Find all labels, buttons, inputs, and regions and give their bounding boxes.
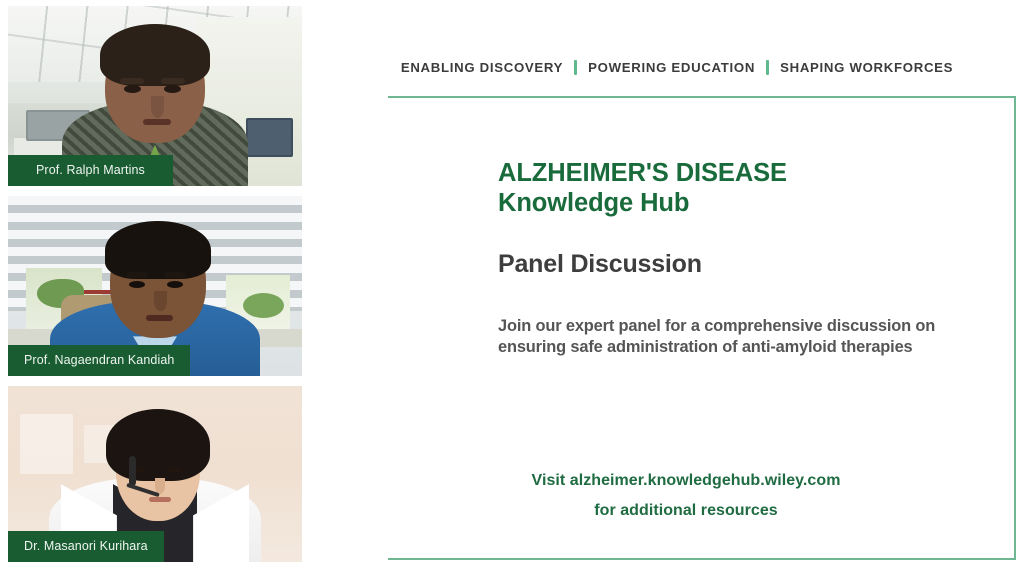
session-description-line-1: Join our expert panel for a comprehensiv… <box>498 317 935 335</box>
slide-frame-bottom-border <box>388 558 1016 560</box>
slide-content: ALZHEIMER'S DISEASE Knowledge Hub Panel … <box>388 98 1014 558</box>
participant-nose <box>154 291 167 311</box>
session-type-heading: Panel Discussion <box>498 250 702 279</box>
participant-mouth <box>149 497 171 502</box>
participant-eyebrow-left <box>120 78 144 84</box>
participant-mouth <box>146 315 173 321</box>
participant-name-label: Prof. Nagaendran Kandiah <box>8 345 190 377</box>
participant-name-label: Dr. Masanori Kurihara <box>8 531 164 563</box>
participant-hair <box>106 409 210 481</box>
participant-eye-right <box>167 467 182 472</box>
participant-nose <box>155 478 165 494</box>
video-tile-participant-3[interactable]: Dr. Masanori Kurihara <box>8 386 302 562</box>
participant-eyebrow-right <box>164 272 186 278</box>
cta-subtext: for additional resources <box>388 496 984 526</box>
background-monitor-right <box>246 118 293 158</box>
participant-nose <box>151 96 164 118</box>
participant-eye-left <box>129 281 145 288</box>
headset-icon <box>129 456 136 486</box>
tagline-item-1: ENABLING DISCOVERY <box>401 60 563 75</box>
session-description: Join our expert panel for a comprehensiv… <box>498 316 998 358</box>
slide-title-line-1: ALZHEIMER'S DISEASE <box>498 159 787 187</box>
slide-title: ALZHEIMER'S DISEASE Knowledge Hub <box>498 158 787 219</box>
tagline-item-2: POWERING EDUCATION <box>588 60 755 75</box>
participant-mouth <box>143 119 171 125</box>
participant-name-label: Prof. Ralph Martins <box>8 155 173 187</box>
tagline-item-3: SHAPING WORKFORCES <box>780 60 953 75</box>
participant-hair <box>105 221 211 279</box>
tagline-separator-icon <box>766 60 769 75</box>
participant-eyebrow-left <box>126 272 148 278</box>
slide-title-line-2: Knowledge Hub <box>498 188 787 218</box>
brand-tagline: ENABLING DISCOVERY POWERING EDUCATION SH… <box>330 60 1024 75</box>
participant-hair <box>100 24 210 86</box>
video-tile-participant-2[interactable]: Prof. Nagaendran Kandiah <box>8 196 302 376</box>
presentation-screen: Prof. Ralph Martins <box>0 0 1024 568</box>
slide-frame-right-border <box>1014 96 1016 560</box>
video-gallery: Prof. Ralph Martins <box>0 0 310 568</box>
shared-slide: ENABLING DISCOVERY POWERING EDUCATION SH… <box>330 0 1024 568</box>
tagline-separator-icon <box>574 60 577 75</box>
session-description-line-2: ensuring safe administration of anti-amy… <box>498 337 998 358</box>
participant-eyebrow-right <box>161 78 185 84</box>
cta-website-url[interactable]: Visit alzheimer.knowledgehub.wiley.com <box>532 472 841 489</box>
call-to-action[interactable]: Visit alzheimer.knowledgehub.wiley.com f… <box>388 466 984 527</box>
background-poster-left <box>20 414 73 474</box>
participant-eye-right <box>167 281 183 288</box>
video-tile-participant-1[interactable]: Prof. Ralph Martins <box>8 6 302 186</box>
